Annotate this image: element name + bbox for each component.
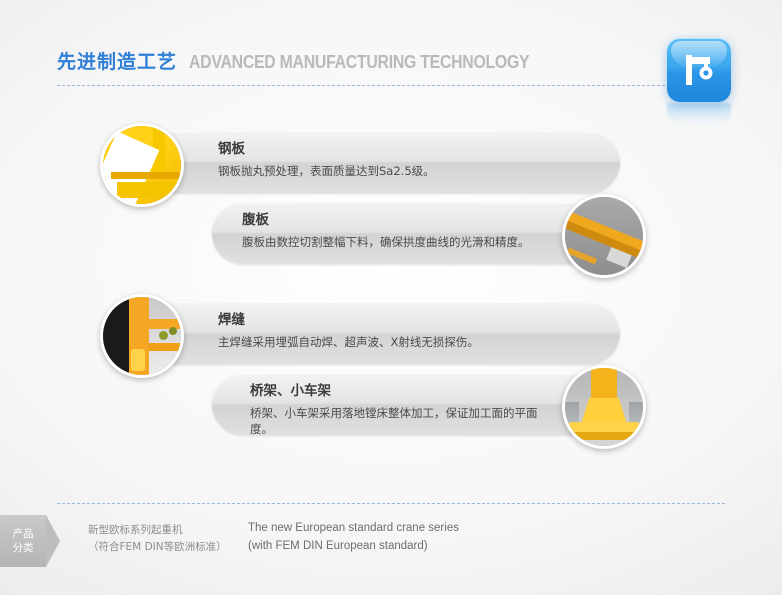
panel-description: 桥架、小车架采用落地镗床整体加工，保证加工面的平面度。 xyxy=(250,405,560,437)
panel-heading: 焊缝 xyxy=(218,311,598,329)
bridge-trolley-frame-photo xyxy=(565,368,643,446)
panel-description: 钢板抛丸预处理，表面质量达到Sa2.5级。 xyxy=(218,163,598,179)
panel-description: 主焊缝采用埋弧自动焊、超声波、X射线无损探伤。 xyxy=(218,334,598,350)
category-tab-arrow-icon xyxy=(46,515,60,567)
panel-thumbnail-web-plate xyxy=(562,194,646,278)
footer-en-line2: (with FEM DIN European standard) xyxy=(248,537,578,555)
crane-hook-glyph xyxy=(680,51,718,89)
feature-panel-steel-plate: 钢板 钢板抛丸预处理，表面质量达到Sa2.5级。 xyxy=(100,131,620,193)
category-tab-line1: 产品 xyxy=(13,527,34,541)
panel-heading: 腹板 xyxy=(242,211,552,229)
footer-cn-line1: 新型欧标系列起重机 xyxy=(88,522,238,539)
panel-heading: 桥架、小车架 xyxy=(250,382,560,400)
header-divider xyxy=(57,85,725,86)
category-tab[interactable]: 产品 分类 xyxy=(0,515,46,567)
category-tab-line2: 分类 xyxy=(13,541,34,555)
panel-text: 桥架、小车架 桥架、小车架采用落地镗床整体加工，保证加工面的平面度。 xyxy=(250,382,560,437)
panel-thumbnail-steel-plate xyxy=(100,123,184,207)
page-header: 先进制造工艺 ADVANCED MANUFACTURING TECHNOLOGY xyxy=(57,47,725,95)
page-title-en: ADVANCED MANUFACTURING TECHNOLOGY xyxy=(189,52,529,73)
feature-panel-bridge-trolley-frame: 桥架、小车架 桥架、小车架采用落地镗床整体加工，保证加工面的平面度。 xyxy=(212,373,642,435)
footer-text-en: The new European standard crane series (… xyxy=(248,519,578,555)
weld-seam-photo xyxy=(103,297,181,375)
footer-text-cn: 新型欧标系列起重机 （符合FEM DIN等欧洲标准） xyxy=(88,522,238,556)
steel-plate-photo xyxy=(103,126,181,204)
header-titles: 先进制造工艺 ADVANCED MANUFACTURING TECHNOLOGY xyxy=(57,47,725,74)
panel-thumbnail-weld-seam xyxy=(100,294,184,378)
crane-hook-icon xyxy=(667,38,731,102)
panel-thumbnail-bridge-trolley-frame xyxy=(562,365,646,449)
panel-heading: 钢板 xyxy=(218,140,598,158)
web-plate-photo xyxy=(565,197,643,275)
panel-text: 焊缝 主焊缝采用埋弧自动焊、超声波、X射线无损探伤。 xyxy=(218,311,598,350)
panel-text: 钢板 钢板抛丸预处理，表面质量达到Sa2.5级。 xyxy=(218,140,598,179)
badge-reflection xyxy=(667,103,731,125)
panel-text: 腹板 腹板由数控切割整幅下料，确保拱度曲线的光滑和精度。 xyxy=(242,211,552,250)
footer-divider xyxy=(57,503,725,504)
panel-description: 腹板由数控切割整幅下料，确保拱度曲线的光滑和精度。 xyxy=(242,234,552,250)
page-footer: 产品 分类 新型欧标系列起重机 （符合FEM DIN等欧洲标准） The new… xyxy=(0,510,782,570)
footer-en-line1: The new European standard crane series xyxy=(248,519,578,537)
feature-panel-web-plate: 腹板 腹板由数控切割整幅下料，确保拱度曲线的光滑和精度。 xyxy=(212,202,642,264)
category-tab-label: 产品 分类 xyxy=(13,527,34,555)
footer-cn-line2: （符合FEM DIN等欧洲标准） xyxy=(88,539,238,556)
page-title-cn: 先进制造工艺 xyxy=(57,47,177,74)
feature-panel-weld-seam: 焊缝 主焊缝采用埋弧自动焊、超声波、X射线无损探伤。 xyxy=(100,302,620,364)
